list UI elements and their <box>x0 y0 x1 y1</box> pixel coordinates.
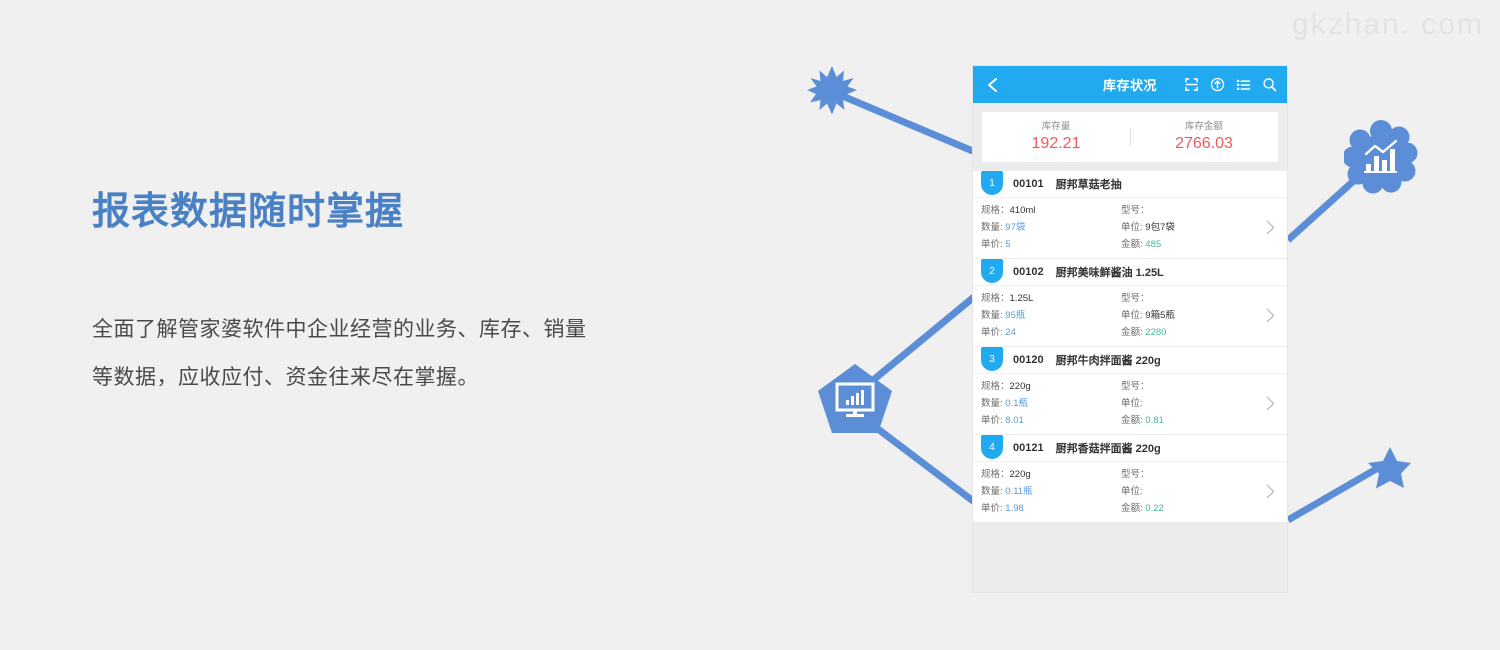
field-spec: 规格：1.25L <box>981 290 1121 307</box>
list-item[interactable]: 4 00121 厨邦香菇拌面酱 220g 规格：220g 数量: 0.11瓶 单… <box>973 435 1287 523</box>
list-item-body: 规格：410ml 数量: 97袋 单价: 5 型号： 单位: 9包7袋 金额: … <box>973 198 1287 258</box>
starburst-badge <box>806 64 858 120</box>
list-item-body: 规格：220g 数量: 0.11瓶 单价: 1.98 型号： 单位: 金额: 0… <box>973 462 1287 522</box>
list-item-header: 1 00101 厨邦草菇老抽 <box>973 171 1287 198</box>
list-item-name: 厨邦香菇拌面酱 220g <box>1056 440 1161 456</box>
summary-card: 库存量 192.21 库存金额 2766.03 <box>981 111 1279 163</box>
field-qty: 数量: 0.1瓶 <box>981 395 1121 412</box>
field-amount: 金额: 485 <box>1121 236 1261 253</box>
list-item-index: 4 <box>981 435 1003 459</box>
summary-value: 2766.03 <box>1130 134 1278 154</box>
scan-icon[interactable] <box>1184 77 1199 92</box>
star-icon <box>1366 444 1412 490</box>
search-icon[interactable] <box>1262 77 1277 92</box>
field-spec: 规格：220g <box>981 378 1121 395</box>
cloud-chart-badge <box>1344 120 1418 194</box>
field-spec: 规格：410ml <box>981 202 1121 219</box>
field-unit: 单位: <box>1121 395 1261 412</box>
list-item[interactable]: 1 00101 厨邦草菇老抽 规格：410ml 数量: 97袋 单价: 5 型号… <box>973 171 1287 259</box>
field-qty: 数量: 0.11瓶 <box>981 483 1121 500</box>
list-item-index: 1 <box>981 171 1003 195</box>
inventory-list: 1 00101 厨邦草菇老抽 规格：410ml 数量: 97袋 单价: 5 型号… <box>973 171 1287 523</box>
monitor-chart-icon <box>816 362 894 436</box>
field-unit: 单位: <box>1121 483 1261 500</box>
app-bar-actions <box>1184 77 1277 92</box>
starburst-icon <box>806 64 858 120</box>
summary-label: 库存金额 <box>1130 120 1278 134</box>
list-item-index: 3 <box>981 347 1003 371</box>
field-model: 型号： <box>1121 378 1261 395</box>
list-icon[interactable] <box>1236 77 1251 92</box>
list-item-code: 00102 <box>1013 266 1044 278</box>
bar-chart-trend-icon <box>1344 120 1418 194</box>
field-unit: 单位: 9包7袋 <box>1121 219 1261 236</box>
field-price: 单价: 5 <box>981 236 1121 253</box>
field-model: 型号： <box>1121 290 1261 307</box>
field-unit: 单位: 9箱5瓶 <box>1121 307 1261 324</box>
list-item-name: 厨邦牛肉拌面酱 220g <box>1056 352 1161 368</box>
list-item-code: 00120 <box>1013 354 1044 366</box>
list-item[interactable]: 2 00102 厨邦美味鲜酱油 1.25L 规格：1.25L 数量: 95瓶 单… <box>973 259 1287 347</box>
list-item-header: 2 00102 厨邦美味鲜酱油 1.25L <box>973 259 1287 286</box>
field-amount: 金额: 0.22 <box>1121 500 1261 517</box>
field-qty: 数量: 97袋 <box>981 219 1121 236</box>
field-spec: 规格：220g <box>981 466 1121 483</box>
field-model: 型号： <box>1121 202 1261 219</box>
promo-banner: gkzhan. com 报表数据随时掌握 全面了解管家婆软件中企业经营的业务、库… <box>0 0 1500 650</box>
field-model: 型号： <box>1121 466 1261 483</box>
list-item-name: 厨邦草菇老抽 <box>1056 176 1122 192</box>
chevron-right-icon[interactable] <box>1261 308 1279 323</box>
pentagon-monitor-badge <box>816 362 894 436</box>
field-price: 单价: 8.01 <box>981 412 1121 429</box>
field-price: 单价: 24 <box>981 324 1121 341</box>
list-item-header: 3 00120 厨邦牛肉拌面酱 220g <box>973 347 1287 374</box>
phone-mockup: 库存状况 <box>973 66 1287 592</box>
summary-label: 库存量 <box>982 120 1130 134</box>
summary-stat-amount: 库存金额 2766.03 <box>1130 120 1278 154</box>
field-amount: 金额: 2280 <box>1121 324 1261 341</box>
chevron-right-icon[interactable] <box>1261 396 1279 411</box>
list-item-body: 规格：1.25L 数量: 95瓶 单价: 24 型号： 单位: 9箱5瓶 金额:… <box>973 286 1287 346</box>
list-item-index: 2 <box>981 259 1003 283</box>
summary-value: 192.21 <box>982 134 1130 154</box>
star-badge <box>1366 444 1412 490</box>
list-item[interactable]: 3 00120 厨邦牛肉拌面酱 220g 规格：220g 数量: 0.1瓶 单价… <box>973 347 1287 435</box>
field-price: 单价: 1.98 <box>981 500 1121 517</box>
list-item-name: 厨邦美味鲜酱油 1.25L <box>1056 264 1164 280</box>
chevron-right-icon[interactable] <box>1261 220 1279 235</box>
list-item-code: 00101 <box>1013 178 1044 190</box>
list-item-header: 4 00121 厨邦香菇拌面酱 220g <box>973 435 1287 462</box>
summary-stat-stock: 库存量 192.21 <box>982 120 1130 154</box>
list-item-code: 00121 <box>1013 442 1044 454</box>
summary-card-wrap: 库存量 192.21 库存金额 2766.03 <box>973 103 1287 163</box>
upload-circle-icon[interactable] <box>1210 77 1225 92</box>
field-amount: 金额: 0.81 <box>1121 412 1261 429</box>
app-bar: 库存状况 <box>973 66 1287 103</box>
field-qty: 数量: 95瓶 <box>981 307 1121 324</box>
chevron-left-icon[interactable] <box>985 77 1001 93</box>
chevron-right-icon[interactable] <box>1261 484 1279 499</box>
list-item-body: 规格：220g 数量: 0.1瓶 单价: 8.01 型号： 单位: 金额: 0.… <box>973 374 1287 434</box>
phone-bottom-area <box>973 523 1287 559</box>
